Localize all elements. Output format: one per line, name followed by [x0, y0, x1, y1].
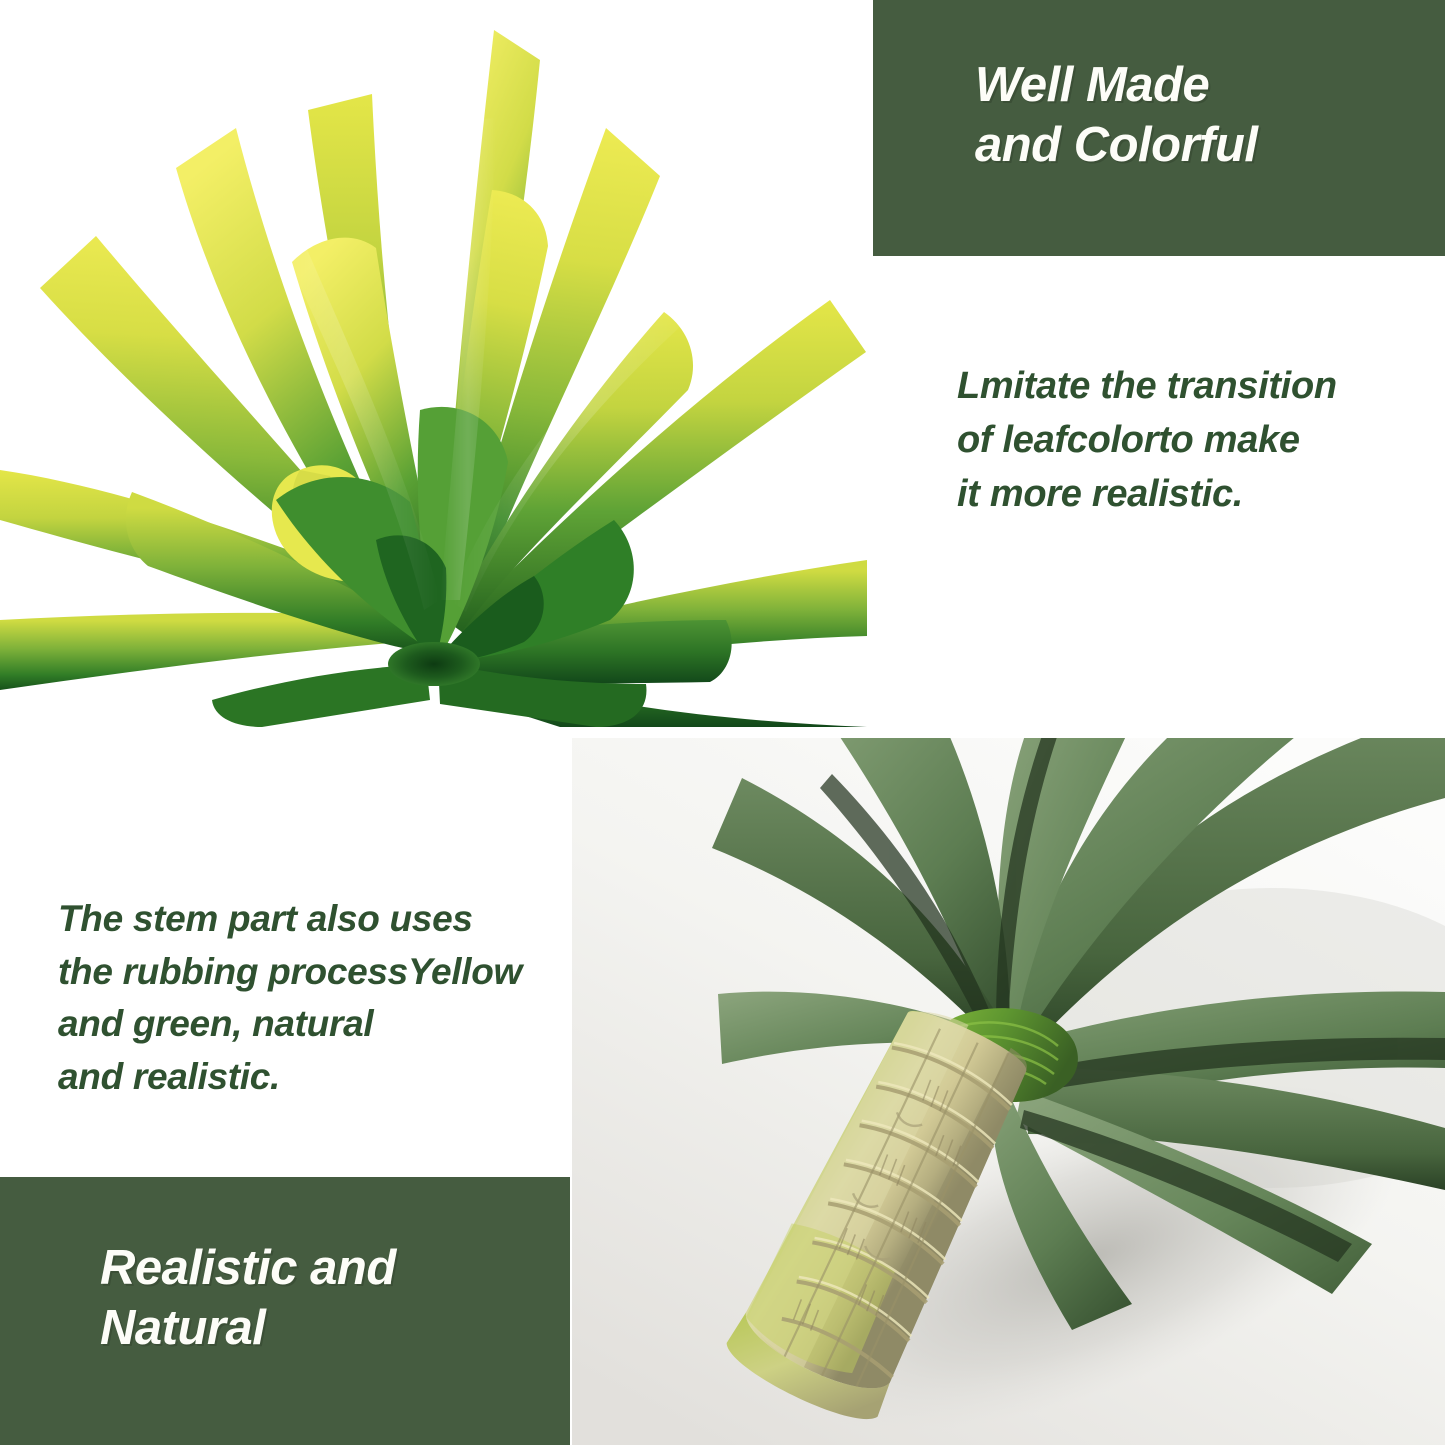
banner-top-line2: and Colorful — [975, 116, 1258, 176]
agave-stem-illustration — [572, 738, 1445, 1445]
copy-stem-rubbing-process: The stem part also uses the rubbing proc… — [58, 893, 578, 1103]
banner-bottom-line2: Natural — [100, 1299, 396, 1359]
banner-top-text: Well Made and Colorful — [975, 56, 1258, 176]
copy-right-line1: Lmitate the transition — [957, 360, 1427, 414]
photo-agave-top-view — [0, 0, 867, 727]
infographic-canvas: Well Made and Colorful Lmitate the trans… — [0, 0, 1445, 1445]
photo-agave-stem-detail — [572, 738, 1445, 1445]
copy-left-line4: and realistic. — [58, 1051, 578, 1104]
banner-bottom-text: Realistic and Natural — [100, 1239, 396, 1359]
copy-right-line3: it more realistic. — [957, 468, 1427, 522]
banner-well-made: Well Made and Colorful — [873, 0, 1445, 256]
banner-realistic-natural: Realistic and Natural — [0, 1177, 570, 1445]
agave-top-illustration — [0, 0, 867, 727]
banner-bottom-line1: Realistic and — [100, 1239, 396, 1299]
copy-right-line2: of leafcolorto make — [957, 414, 1427, 468]
copy-left-line1: The stem part also uses — [58, 893, 578, 946]
banner-top-line1: Well Made — [975, 56, 1258, 116]
copy-leaf-color-transition: Lmitate the transition of leafcolorto ma… — [957, 360, 1427, 522]
copy-left-line2: the rubbing processYellow — [58, 946, 578, 999]
copy-left-line3: and green, natural — [58, 998, 578, 1051]
